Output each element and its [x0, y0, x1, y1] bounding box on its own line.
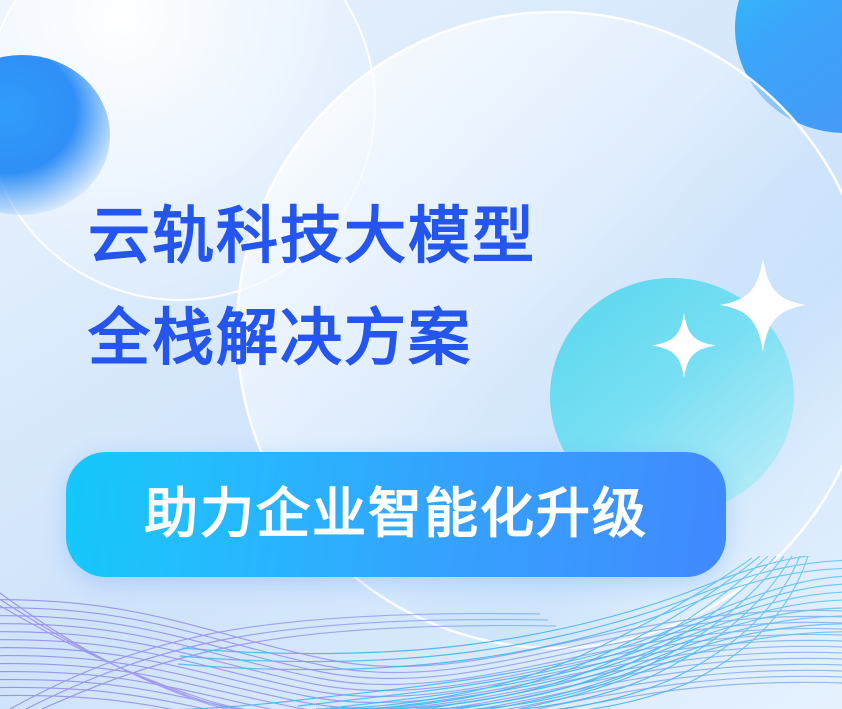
marketing-banner: 云轨科技大模型 全栈解决方案 助力企业智能化升级: [0, 0, 842, 709]
cta-button[interactable]: 助力企业智能化升级: [66, 452, 726, 577]
banner-content: 云轨科技大模型 全栈解决方案 助力企业智能化升级: [0, 0, 842, 709]
headline-line-1: 云轨科技大模型: [88, 186, 728, 288]
headline: 云轨科技大模型 全栈解决方案: [88, 186, 728, 390]
headline-line-2: 全栈解决方案: [88, 288, 728, 390]
cta-button-label: 助力企业智能化升级: [144, 487, 648, 543]
